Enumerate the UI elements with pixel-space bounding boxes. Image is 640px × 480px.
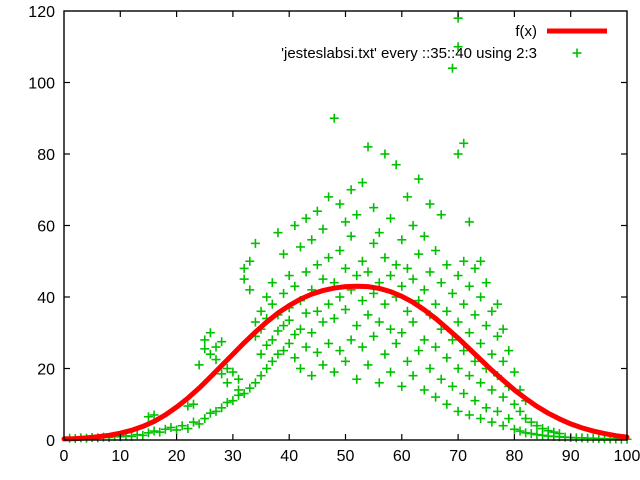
x-axis-tick-label: 50 <box>337 448 355 465</box>
x-axis-tick-label: 30 <box>224 448 242 465</box>
x-axis-tick-label: 90 <box>562 448 580 465</box>
y-axis-tick-label: 60 <box>37 219 55 236</box>
y-axis-tick-label: 20 <box>37 362 55 379</box>
x-axis-tick-label: 60 <box>393 448 411 465</box>
x-axis-tick-label: 70 <box>449 448 467 465</box>
x-axis-tick-label: 0 <box>60 448 69 465</box>
y-axis-tick-label: 80 <box>37 147 55 164</box>
y-axis-tick-label: 120 <box>28 4 55 21</box>
y-axis-tick-label: 0 <box>46 433 55 450</box>
x-axis-tick-label: 40 <box>280 448 298 465</box>
chart-canvas: 0102030405060708090100020406080100120 f(… <box>0 0 640 480</box>
x-axis-tick-label: 20 <box>168 448 186 465</box>
x-axis-tick-label: 10 <box>111 448 129 465</box>
gnuplot-window: 0102030405060708090100020406080100120 f(… <box>0 0 640 480</box>
x-axis-tick-label: 80 <box>506 448 524 465</box>
y-axis-tick-label: 40 <box>37 290 55 307</box>
x-axis-tick-label: 100 <box>614 448 640 465</box>
legend-entry-label: f(x) <box>515 23 537 40</box>
legend-entry-label: 'jesteslabsi.txt' every ::35::40 using 2… <box>281 45 537 62</box>
y-axis-tick-label: 100 <box>28 76 55 93</box>
